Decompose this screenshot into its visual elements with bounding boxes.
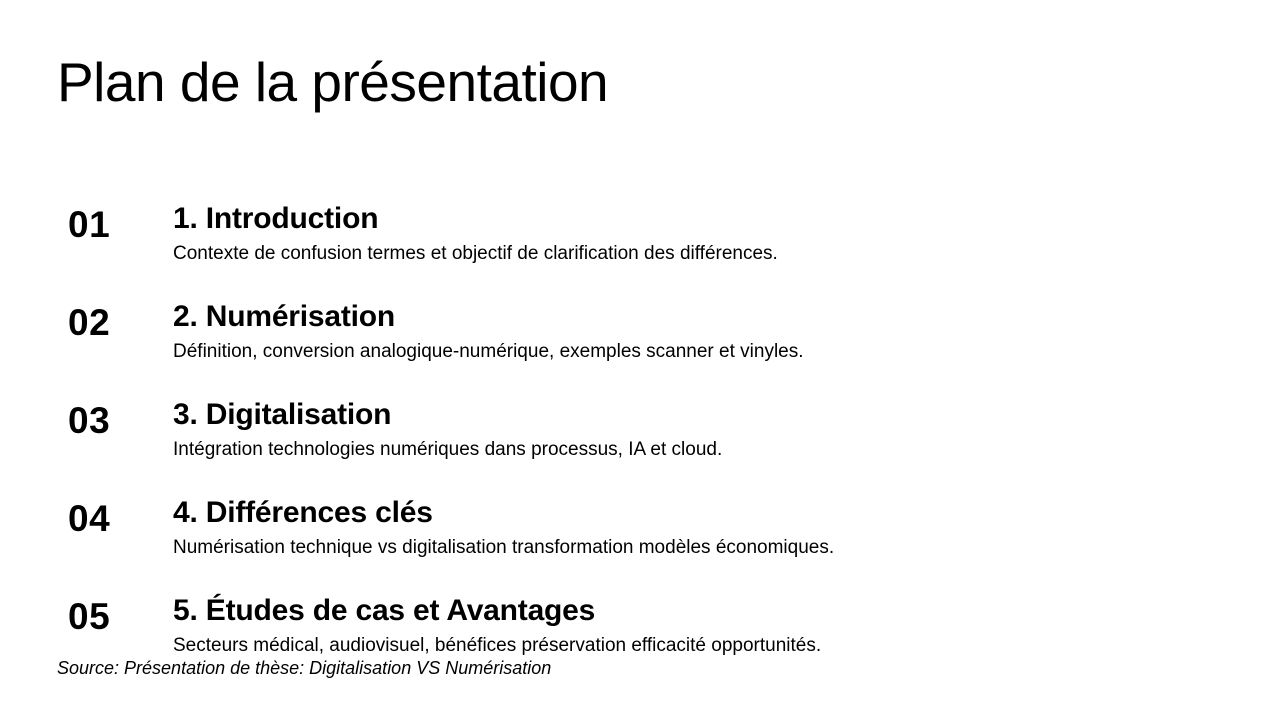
agenda-item-number: 03 bbox=[68, 402, 164, 439]
agenda-item-02[interactable]: 02 2. Numérisation Définition, conversio… bbox=[0, 300, 1280, 398]
agenda-item-body: 2. Numérisation Définition, conversion a… bbox=[173, 300, 1233, 333]
agenda-item-heading: 1. Introduction bbox=[173, 202, 1233, 235]
agenda-item-body: 1. Introduction Contexte de confusion te… bbox=[173, 202, 1233, 235]
agenda-item-heading: 3. Digitalisation bbox=[173, 398, 1233, 431]
source-note: Source: Présentation de thèse: Digitalis… bbox=[57, 658, 551, 680]
agenda-item-description: Définition, conversion analogique-numéri… bbox=[173, 340, 804, 364]
presentation-slide: Plan de la présentation 01 1. Introducti… bbox=[0, 0, 1280, 720]
agenda-item-body: 4. Différences clés Numérisation techniq… bbox=[173, 496, 1233, 529]
agenda-item-description: Numérisation technique vs digitalisation… bbox=[173, 536, 834, 560]
agenda-item-number: 04 bbox=[68, 500, 164, 537]
agenda-item-04[interactable]: 04 4. Différences clés Numérisation tech… bbox=[0, 496, 1280, 594]
agenda-item-03[interactable]: 03 3. Digitalisation Intégration technol… bbox=[0, 398, 1280, 496]
agenda-item-01[interactable]: 01 1. Introduction Contexte de confusion… bbox=[0, 202, 1280, 300]
agenda-item-number: 05 bbox=[68, 598, 164, 635]
agenda-item-body: 5. Études de cas et Avantages Secteurs m… bbox=[173, 594, 1233, 627]
agenda-item-heading: 5. Études de cas et Avantages bbox=[173, 594, 1233, 627]
agenda-item-number: 01 bbox=[68, 206, 164, 243]
agenda-item-body: 3. Digitalisation Intégration technologi… bbox=[173, 398, 1233, 431]
agenda-item-number: 02 bbox=[68, 304, 164, 341]
agenda-item-heading: 4. Différences clés bbox=[173, 496, 1233, 529]
agenda-item-heading: 2. Numérisation bbox=[173, 300, 1233, 333]
page-title: Plan de la présentation bbox=[57, 54, 608, 112]
agenda-item-description: Intégration technologies numériques dans… bbox=[173, 438, 722, 462]
agenda-item-description: Contexte de confusion termes et objectif… bbox=[173, 242, 778, 266]
agenda-item-description: Secteurs médical, audiovisuel, bénéfices… bbox=[173, 634, 821, 658]
